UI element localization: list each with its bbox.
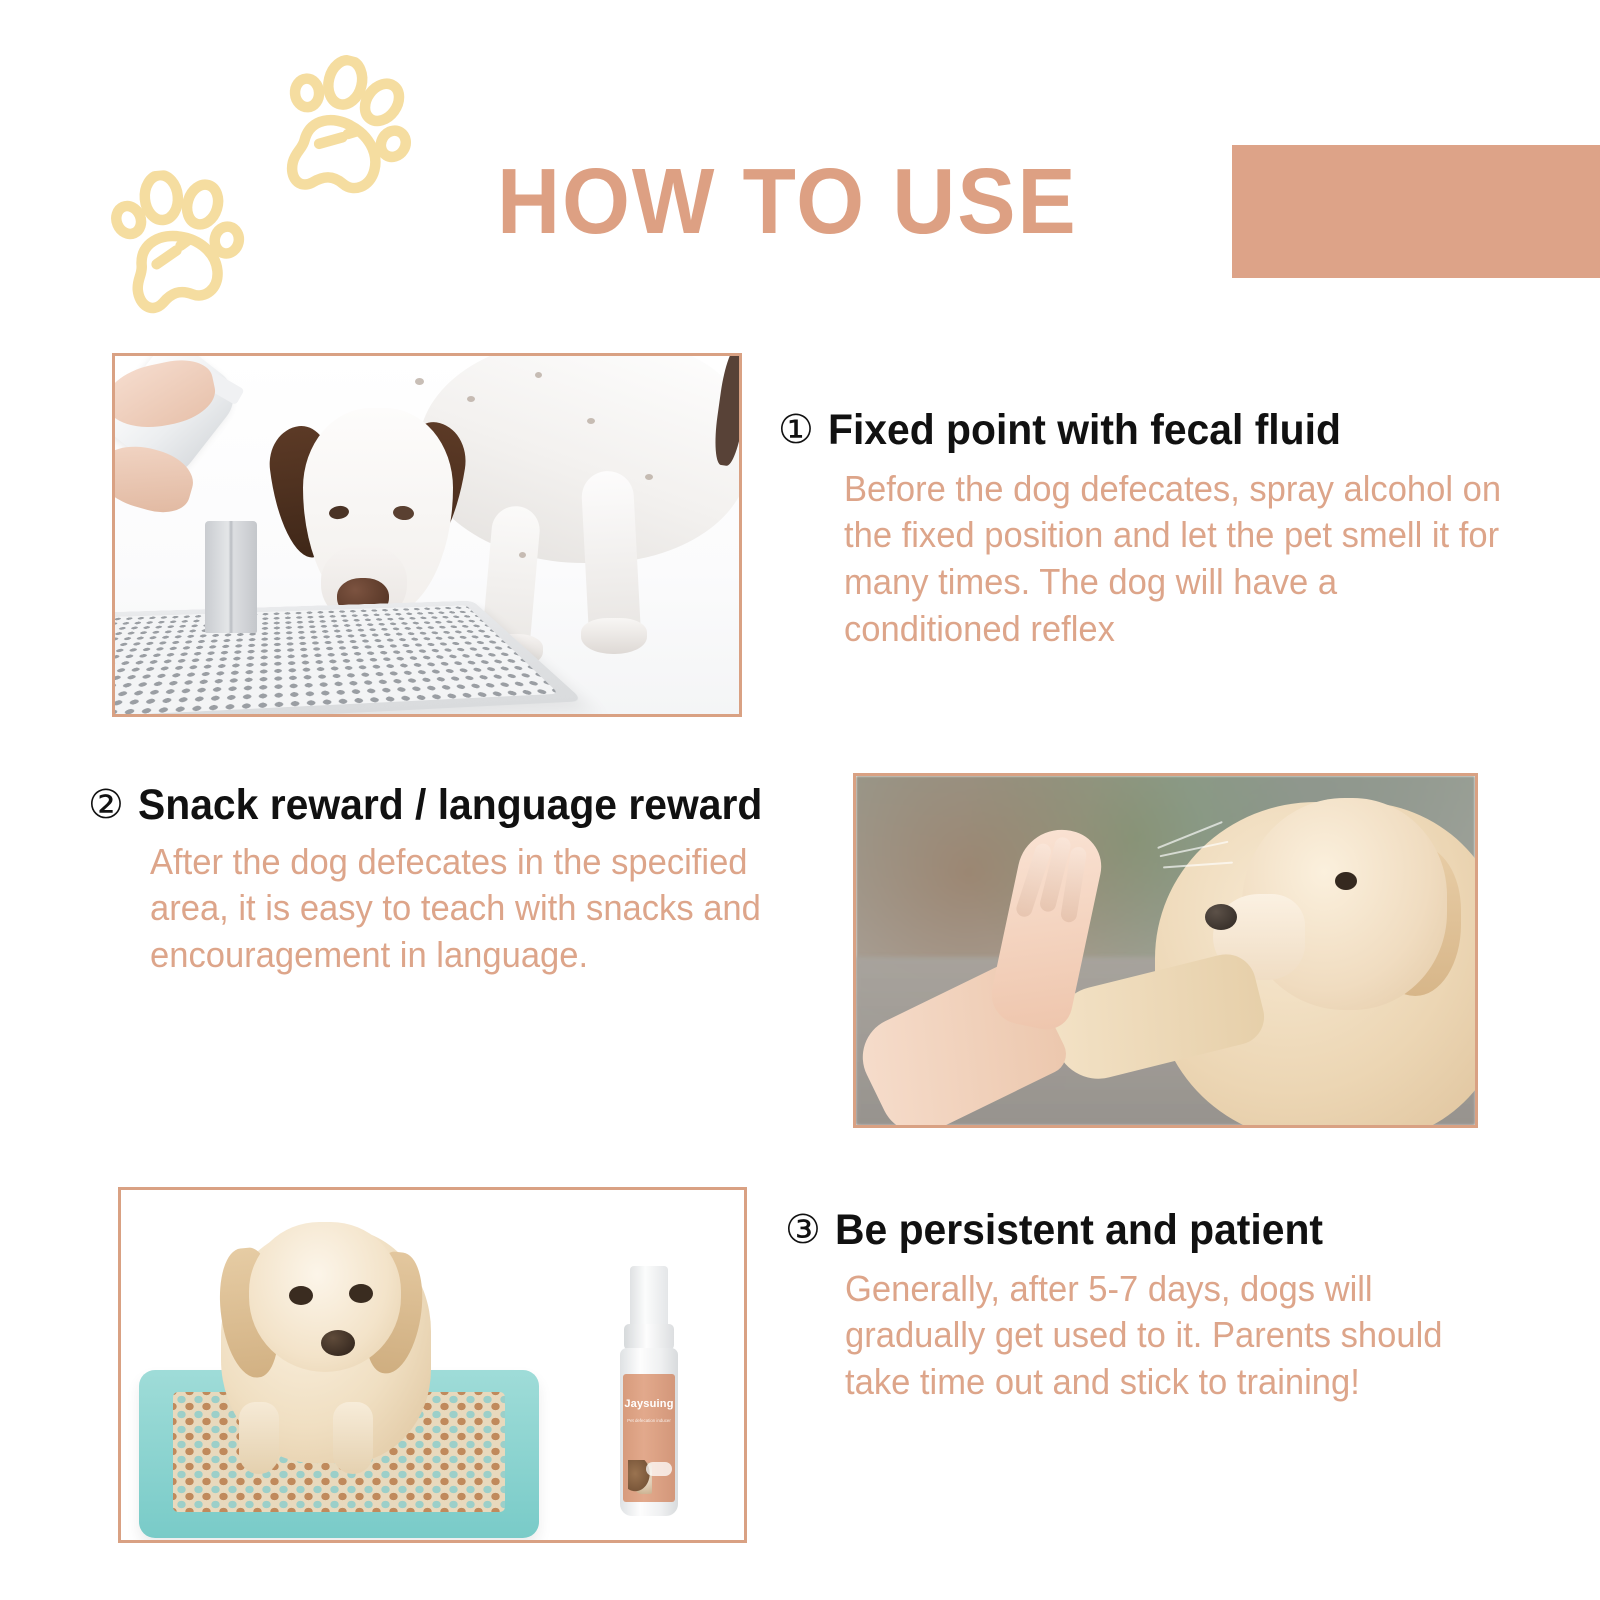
dog-spot — [467, 396, 475, 402]
dog-nose — [321, 1330, 355, 1356]
photo-step-1 — [112, 353, 742, 717]
step-1-number: ① — [778, 408, 814, 452]
dog-spot — [535, 372, 542, 378]
step-3-heading: ③ Be persistent and patient — [785, 1208, 1525, 1254]
dog-eye — [1335, 872, 1357, 890]
bottle-collar — [624, 1324, 674, 1350]
photo-step-1-content — [115, 356, 739, 714]
photo-step-2-content — [856, 776, 1475, 1125]
step-3-text: ③ Be persistent and patient Generally, a… — [785, 1208, 1525, 1406]
dog-nose — [1205, 904, 1237, 930]
step-3-body: Generally, after 5-7 days, dogs will gra… — [845, 1266, 1479, 1406]
dog-eye — [349, 1284, 373, 1303]
header-accent-block — [1232, 145, 1600, 278]
photo-step-3-content: Jaysuing Pet defecation inducer — [121, 1190, 744, 1540]
product-spray-bottle: Jaysuing Pet defecation inducer — [616, 1266, 682, 1516]
photo-step-3: Jaysuing Pet defecation inducer — [118, 1187, 747, 1543]
product-subtitle: Pet defecation inducer — [623, 1418, 675, 1423]
paw-print-icon — [89, 164, 252, 327]
dog-eye — [289, 1286, 313, 1305]
product-brand: Jaysuing — [623, 1398, 675, 1410]
step-2-heading: ② Snack reward / language reward — [88, 783, 808, 829]
step-1-heading: ① Fixed point with fecal fluid — [778, 408, 1518, 454]
paw-print-decoration — [95, 55, 425, 320]
dog-paw — [581, 618, 647, 654]
pee-post — [205, 521, 257, 633]
bottle-cap — [630, 1266, 668, 1328]
step-3-number: ③ — [785, 1208, 821, 1252]
step-1-title: Fixed point with fecal fluid — [828, 408, 1341, 454]
step-3-title: Be persistent and patient — [835, 1208, 1323, 1254]
step-2-title: Snack reward / language reward — [138, 783, 762, 829]
dog-leg — [239, 1402, 279, 1474]
label-speech-bubble — [646, 1462, 672, 1476]
dog-leg — [333, 1402, 373, 1474]
dog-spot — [519, 552, 526, 558]
dog-spot — [587, 418, 595, 424]
page-title: HOW TO USE — [497, 155, 1080, 248]
dog-spot — [645, 474, 653, 480]
infographic-page: HOW TO USE — [0, 0, 1600, 1600]
dog-spot — [415, 378, 424, 385]
photo-step-2 — [853, 773, 1478, 1128]
step-1-text: ① Fixed point with fecal fluid Before th… — [778, 408, 1518, 653]
tray-mesh — [115, 605, 559, 714]
paw-print-icon — [247, 39, 429, 221]
step-2-body: After the dog defecates in the specified… — [150, 839, 784, 979]
bottle-label: Jaysuing Pet defecation inducer — [623, 1374, 675, 1502]
step-1-body: Before the dog defecates, spray alcohol … — [844, 466, 1506, 653]
step-2-text: ② Snack reward / language reward After t… — [88, 783, 808, 979]
step-2-number: ② — [88, 783, 124, 827]
